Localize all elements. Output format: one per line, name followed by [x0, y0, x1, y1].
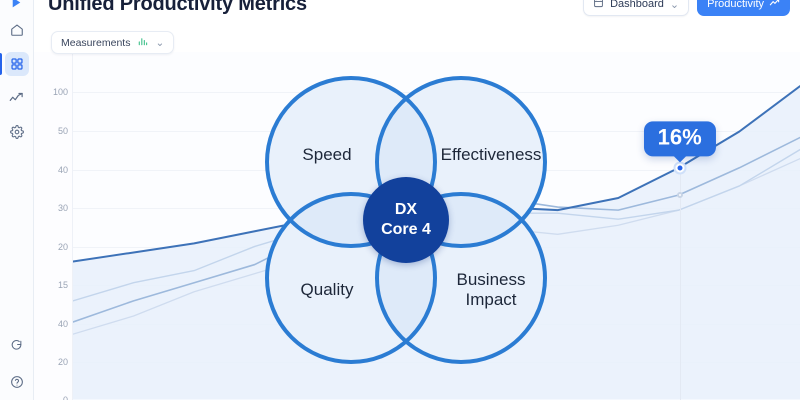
sidebar-item-trends[interactable]: [0, 84, 34, 112]
bar-chart-icon: [137, 36, 148, 50]
chart-tooltip: 16%: [644, 121, 716, 156]
venn-core-line1: DX: [395, 200, 417, 220]
sidebar-item-settings[interactable]: [0, 118, 34, 146]
chevron-down-icon: ⌄: [155, 37, 164, 49]
y-axis-tick-label: 20: [58, 357, 68, 367]
chart-point-secondary[interactable]: [677, 192, 683, 198]
venn-diagram: Speed Effectiveness Quality Business Imp…: [236, 50, 576, 390]
dashboard-button[interactable]: Dashboard ⌄: [583, 0, 689, 16]
trend-arrow-icon: [769, 0, 780, 11]
y-axis-tick-label: 15: [58, 280, 68, 290]
y-axis-tick-label: 20: [58, 242, 68, 252]
logo-icon[interactable]: [0, 0, 34, 10]
y-axis-tick-label: 40: [58, 319, 68, 329]
sidebar-item-dashboard[interactable]: [0, 50, 34, 78]
chart-point-primary[interactable]: [675, 163, 684, 172]
chevron-down-icon: ⌄: [670, 0, 679, 11]
venn-core-badge: DX Core 4: [363, 177, 449, 263]
y-axis-tick-label: 0: [63, 395, 68, 400]
productivity-button[interactable]: Productivity: [697, 0, 790, 16]
venn-label-business-impact: Business Impact: [457, 270, 526, 310]
header-actions: Dashboard ⌄ Productivity: [583, 0, 790, 16]
venn-label-quality: Quality: [301, 280, 354, 300]
chart-y-axis: 100504030201540200: [34, 52, 72, 400]
venn-core-line2: Core 4: [381, 220, 431, 240]
app-root: 100504030201540200 16% Speed Effectivene…: [0, 0, 800, 400]
sidebar-item-sync[interactable]: [0, 330, 34, 358]
sidebar: [0, 0, 34, 400]
measurements-label: Measurements: [61, 37, 130, 49]
measurements-dropdown[interactable]: Measurements ⌄: [51, 31, 174, 54]
productivity-button-label: Productivity: [707, 0, 764, 10]
dashboard-button-label: Dashboard: [610, 0, 664, 10]
venn-label-effectiveness: Effectiveness: [441, 145, 542, 165]
page-title: Unified Productivity Metrics: [48, 0, 307, 16]
venn-label-speed: Speed: [302, 145, 351, 165]
sidebar-item-help[interactable]: [0, 368, 34, 396]
y-axis-tick-label: 30: [58, 203, 68, 213]
y-axis-tick-label: 100: [53, 87, 68, 97]
sidebar-item-home[interactable]: [0, 16, 34, 44]
chart-crosshair-line: [680, 168, 681, 400]
y-axis-tick-label: 40: [58, 165, 68, 175]
calendar-icon: [593, 0, 604, 11]
y-axis-tick-label: 50: [58, 126, 68, 136]
